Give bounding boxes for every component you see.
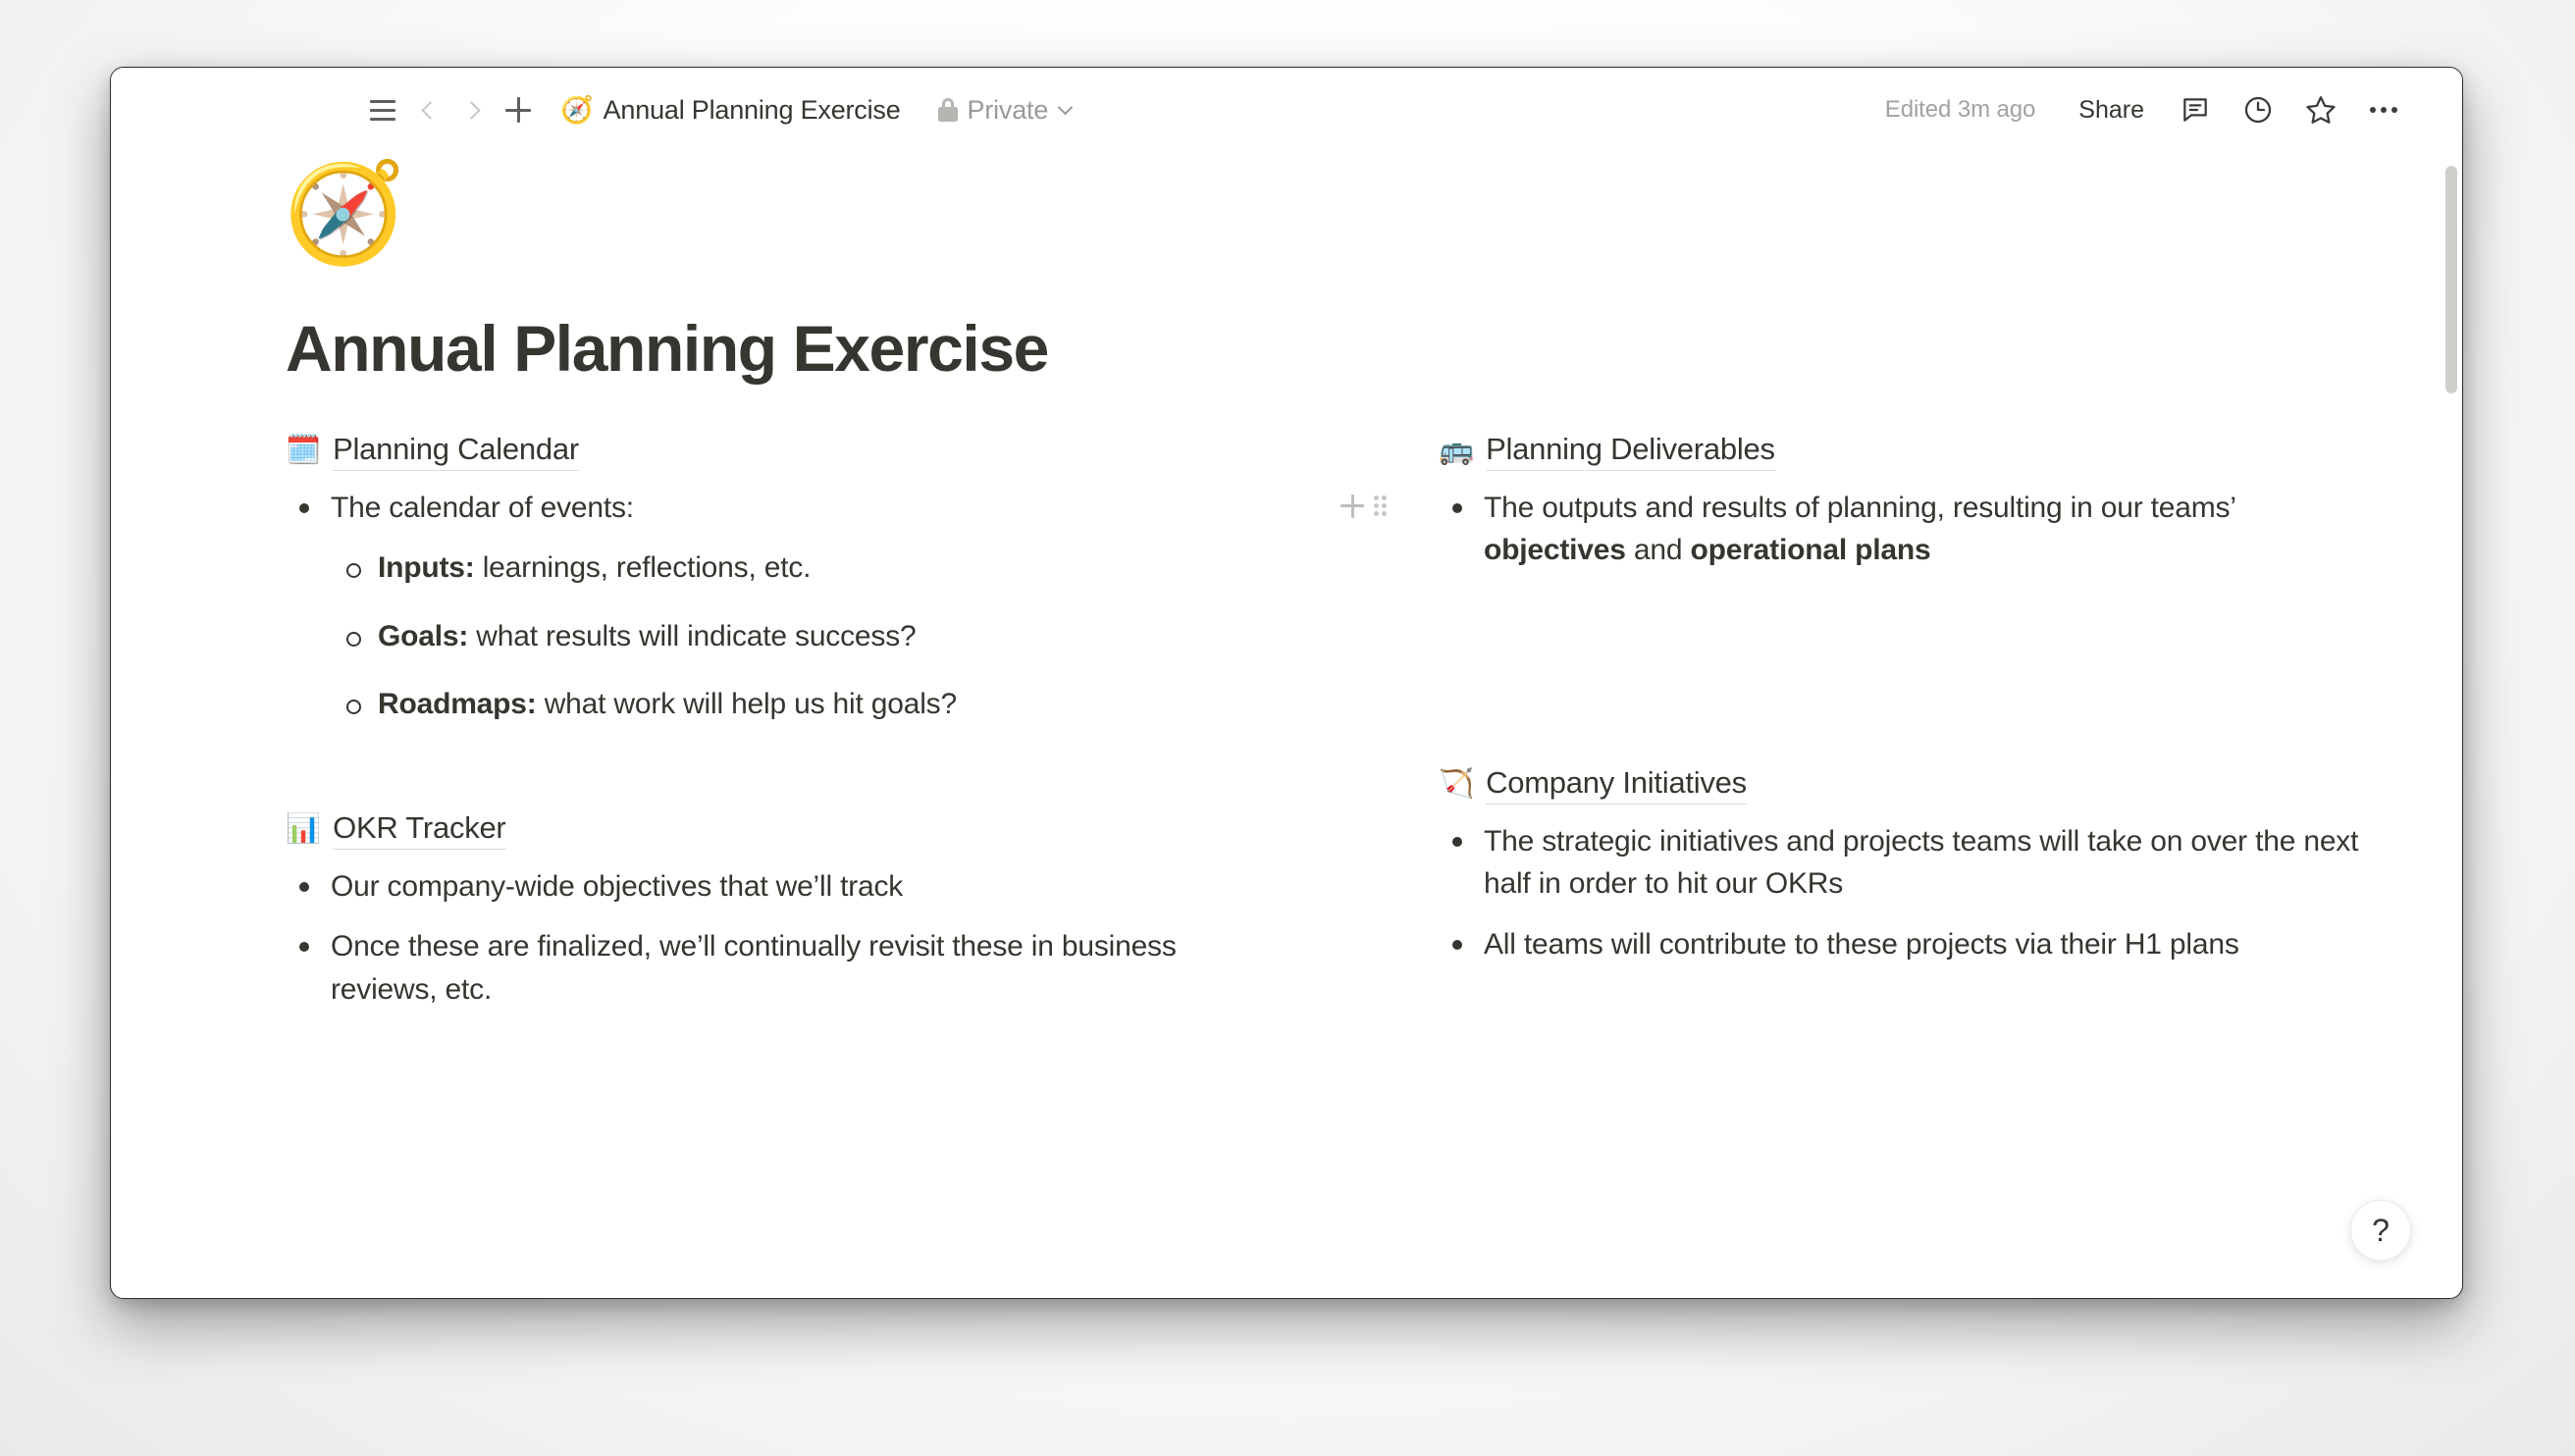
titlebar-right-group: Edited 3m ago Share [1873,86,2462,133]
page-emoji-compass-icon[interactable]: 🧭 [284,164,399,262]
section-title: Company Initiatives [1486,765,1747,805]
edited-timestamp[interactable]: Edited 3m ago [1873,90,2047,130]
calendar-icon: 🗓️ [286,437,321,465]
bow-and-arrow-icon: 🏹 [1439,770,1474,799]
list-item-text: what results will indicate success? [468,620,916,652]
list-item-text: The calendar of events: [331,492,634,524]
list-item-text-mid: and [1626,534,1691,566]
hamburger-icon[interactable] [360,87,405,132]
column-left: 🗓️ Planning Calendar The calendar of eve… [286,432,1344,1029]
list-item-text: what work will help us hit goals? [537,688,957,720]
share-button[interactable]: Share [2065,89,2158,131]
breadcrumb-title: Annual Planning Exercise [604,95,901,126]
section-okr-tracker: 📊 OKR Tracker Our company-wide objective… [286,810,1282,1012]
list-item-text: learnings, reflections, etc. [475,551,812,584]
page-body: 🧭 Annual Planning Exercise 🗓️ Planning C… [111,152,2462,1298]
titlebar: 🧭 Annual Planning Exercise Private Edite… [111,68,2462,152]
block-hover-handles [1340,494,1390,518]
app-window: 🧭 Annual Planning Exercise Private Edite… [110,67,2463,1299]
ellipsis-icon[interactable] [2358,86,2409,133]
drag-handle-icon[interactable] [1374,494,1390,518]
list-item-text: Once these are finalized, we’ll continua… [331,930,1177,1006]
section-planning-deliverables: 🚌 Planning Deliverables The outputs a [1439,432,2364,572]
section-title: Planning Deliverables [1486,432,1775,471]
list-item-text: The strategic initiatives and projects t… [1484,825,2358,901]
list-item-text: Our company-wide objectives that we’ll t… [331,870,903,903]
list-item-text: The outputs and results of planning, res… [1484,492,2235,524]
help-button[interactable]: ? [2350,1200,2411,1261]
section-link-okr-tracker[interactable]: 📊 OKR Tracker [286,810,1282,850]
compass-icon: 🧭 [560,97,594,124]
two-column-layout: 🗓️ Planning Calendar The calendar of eve… [286,432,2403,1029]
section-title: OKR Tracker [333,810,505,850]
list-item-label: Inputs: [378,551,475,584]
privacy-label: Private [968,95,1049,126]
list-item[interactable]: Roadmaps: what work will help us hit goa… [331,683,1282,726]
page-title[interactable]: Annual Planning Exercise [286,313,2403,385]
list-item[interactable]: Inputs: learnings, reflections, etc. [331,546,1282,590]
lock-icon [938,98,958,122]
bullet-list: The strategic initiatives and projects t… [1439,820,2364,966]
list-item-label: Goals: [378,620,468,652]
section-planning-calendar: 🗓️ Planning Calendar The calendar of eve… [286,432,1282,726]
bullet-list: The outputs and results of planning, res… [1439,487,2364,572]
section-link-company-initiatives[interactable]: 🏹 Company Initiatives [1439,765,2364,805]
breadcrumb[interactable]: 🧭 Annual Planning Exercise [551,89,911,131]
privacy-selector[interactable]: Private [928,89,1081,131]
list-item[interactable]: Once these are finalized, we’ll continua… [286,925,1282,1011]
list-item-emphasis-2: operational plans [1690,534,1930,566]
star-icon[interactable] [2295,86,2346,133]
column-right: 🚌 Planning Deliverables The outputs a [1344,432,2403,1029]
clock-icon[interactable] [2233,86,2284,133]
section-company-initiatives: 🏹 Company Initiatives The strategic init… [1439,765,2364,966]
list-item[interactable]: The calendar of events: Inputs: learning… [286,487,1282,726]
bullet-list: The calendar of events: Inputs: learning… [286,487,1282,726]
list-item-label: Roadmaps: [378,688,537,720]
list-item[interactable]: All teams will contribute to these proje… [1439,923,2364,966]
list-item-text: All teams will contribute to these proje… [1484,928,2239,961]
bullet-list: Our company-wide objectives that we’ll t… [286,865,1282,1012]
list-item[interactable]: The strategic initiatives and projects t… [1439,820,2364,906]
list-item[interactable]: The outputs and results of planning, res… [1439,487,2364,572]
plus-icon[interactable] [496,87,541,132]
sub-bullet-list: Inputs: learnings, reflections, etc. Goa… [331,546,1282,726]
section-link-planning-calendar[interactable]: 🗓️ Planning Calendar [286,432,1282,471]
add-block-plus-icon[interactable] [1340,494,1364,518]
bar-chart-icon: 📊 [286,815,321,844]
list-item-emphasis-1: objectives [1484,534,1626,566]
bus-icon: 🚌 [1439,437,1474,465]
chevron-right-icon[interactable] [450,87,496,132]
titlebar-left-group: 🧭 Annual Planning Exercise Private [111,87,1080,132]
section-title: Planning Calendar [333,432,579,471]
chevron-left-icon[interactable] [405,87,450,132]
comment-icon[interactable] [2170,86,2221,133]
list-item[interactable]: Our company-wide objectives that we’ll t… [286,865,1282,909]
list-item[interactable]: Goals: what results will indicate succes… [331,615,1282,658]
section-link-planning-deliverables[interactable]: 🚌 Planning Deliverables [1439,432,2364,471]
chevron-down-icon [1058,100,1074,116]
